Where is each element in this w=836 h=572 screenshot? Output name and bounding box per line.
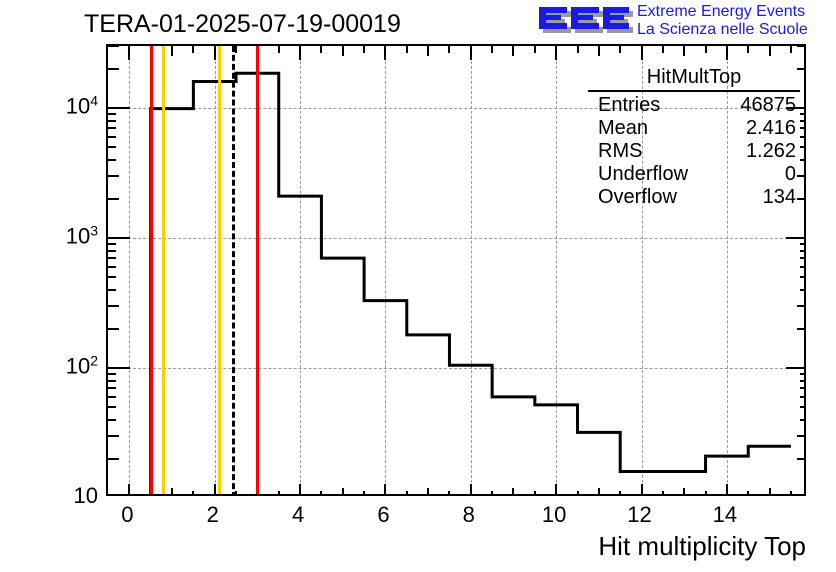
stat-value: 1.262 — [746, 140, 796, 163]
y-axis-label: 10 — [74, 483, 98, 509]
marker-line-red-high — [256, 46, 259, 494]
stat-value: 0 — [785, 163, 796, 186]
x-axis-label: 2 — [207, 502, 219, 528]
stat-row: Overflow134 — [588, 186, 800, 209]
x-axis-label: 4 — [292, 502, 304, 528]
y-axis-label: 104 — [66, 92, 98, 119]
marker-line-orange-high — [218, 46, 221, 494]
x-axis-title: Hit multiplicity Top — [598, 531, 806, 562]
marker-line-red-low — [150, 46, 153, 494]
x-axis-label: 8 — [463, 502, 475, 528]
stat-label: Underflow — [598, 163, 688, 186]
stat-value: 46875 — [740, 94, 796, 117]
stats-divider — [588, 90, 800, 92]
stat-value: 2.416 — [746, 117, 796, 140]
y-axis-label: 102 — [66, 352, 98, 379]
x-axis-label: 6 — [377, 502, 389, 528]
stat-label: Overflow — [598, 186, 677, 209]
x-axis-label: 10 — [542, 502, 566, 528]
x-axis-label: 14 — [713, 502, 737, 528]
stat-label: Mean — [598, 117, 648, 140]
eee-mark-icon — [537, 5, 633, 39]
logo-line-1: Extreme Energy Events — [637, 3, 808, 21]
stat-label: RMS — [598, 140, 642, 163]
stat-row: RMS1.262 — [588, 140, 800, 163]
stat-row: Mean2.416 — [588, 117, 800, 140]
marker-line-mean-dashed — [232, 46, 235, 494]
y-axis-label: 103 — [66, 222, 98, 249]
stat-row: Underflow0 — [588, 163, 800, 186]
stats-box: HitMultTop Entries46875Mean2.416RMS1.262… — [588, 66, 800, 209]
eee-logo: Extreme Energy Events La Scienza nelle S… — [537, 2, 835, 42]
x-axis-label: 12 — [627, 502, 651, 528]
logo-line-2: La Scienza nelle Scuole — [637, 21, 808, 39]
stat-row: Entries46875 — [588, 94, 800, 117]
stat-value: 134 — [763, 186, 796, 209]
stats-title: HitMultTop — [588, 66, 800, 90]
stats-rows: Entries46875Mean2.416RMS1.262Underflow0O… — [588, 94, 800, 209]
stat-label: Entries — [598, 94, 660, 117]
page-title: TERA-01-2025-07-19-00019 — [84, 10, 401, 39]
x-axis-label: 0 — [121, 502, 133, 528]
root-canvas: TERA-01-2025-07-19-00019 — [0, 0, 836, 572]
marker-line-orange-low — [162, 46, 165, 494]
